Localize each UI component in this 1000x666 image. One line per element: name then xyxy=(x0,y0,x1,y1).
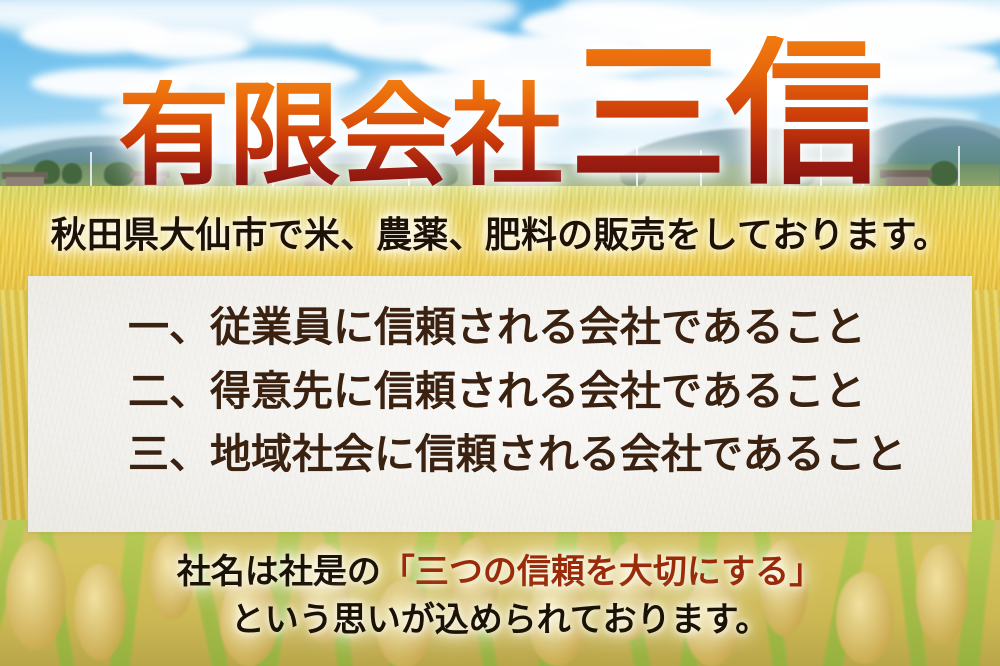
creed-item-3: 三、地域社会に信頼される会社であること xyxy=(128,423,942,487)
utility-pole xyxy=(90,152,92,186)
tree-icon xyxy=(62,163,82,184)
house-icon xyxy=(134,176,166,186)
banner-footer: 社名は社是の「三つの信頼を大切にする」 という思いが込められております。 xyxy=(0,548,1000,645)
utility-pole xyxy=(820,144,822,186)
tree-icon xyxy=(430,163,458,186)
footer-line-2: という思いが込められております。 xyxy=(0,596,1000,644)
cloud-icon xyxy=(30,68,190,98)
footer-line-1-prefix: 社名は社是の xyxy=(177,552,381,592)
tree-icon xyxy=(930,161,958,186)
company-banner: 有限会社 三信 秋田県大仙市で米、農薬、肥料の販売をしております。 一、従業員に… xyxy=(0,0,1000,666)
tree-icon xyxy=(786,160,816,186)
utility-pole xyxy=(408,150,410,186)
utility-pole xyxy=(862,148,864,186)
utility-pole xyxy=(700,150,702,186)
utility-pole xyxy=(958,146,960,186)
footer-motto-quote: 「三つの信頼を大切にする」 xyxy=(381,552,823,592)
tree-icon xyxy=(620,162,646,186)
house-icon xyxy=(514,177,543,186)
house-icon xyxy=(304,178,331,186)
utility-pole xyxy=(636,146,638,186)
company-creed-panel: 一、従業員に信頼される会社であること 二、得意先に信頼される会社であること 三、… xyxy=(28,276,972,532)
creed-item-2: 二、得意先に信頼される会社であること xyxy=(128,360,942,424)
creed-item-1: 一、従業員に信頼される会社であること xyxy=(128,296,942,360)
banner-subtitle: 秋田県大仙市で米、農薬、肥料の販売をしております。 xyxy=(0,206,1000,258)
creed-list: 一、従業員に信頼される会社であること 二、得意先に信頼される会社であること 三、… xyxy=(128,296,942,487)
footer-line-1: 社名は社是の「三つの信頼を大切にする」 xyxy=(0,548,1000,596)
house-icon xyxy=(6,177,44,186)
cloud-icon xyxy=(160,58,360,92)
cloud-icon xyxy=(130,30,250,60)
tree-icon xyxy=(232,164,256,186)
utility-pole xyxy=(272,154,274,186)
